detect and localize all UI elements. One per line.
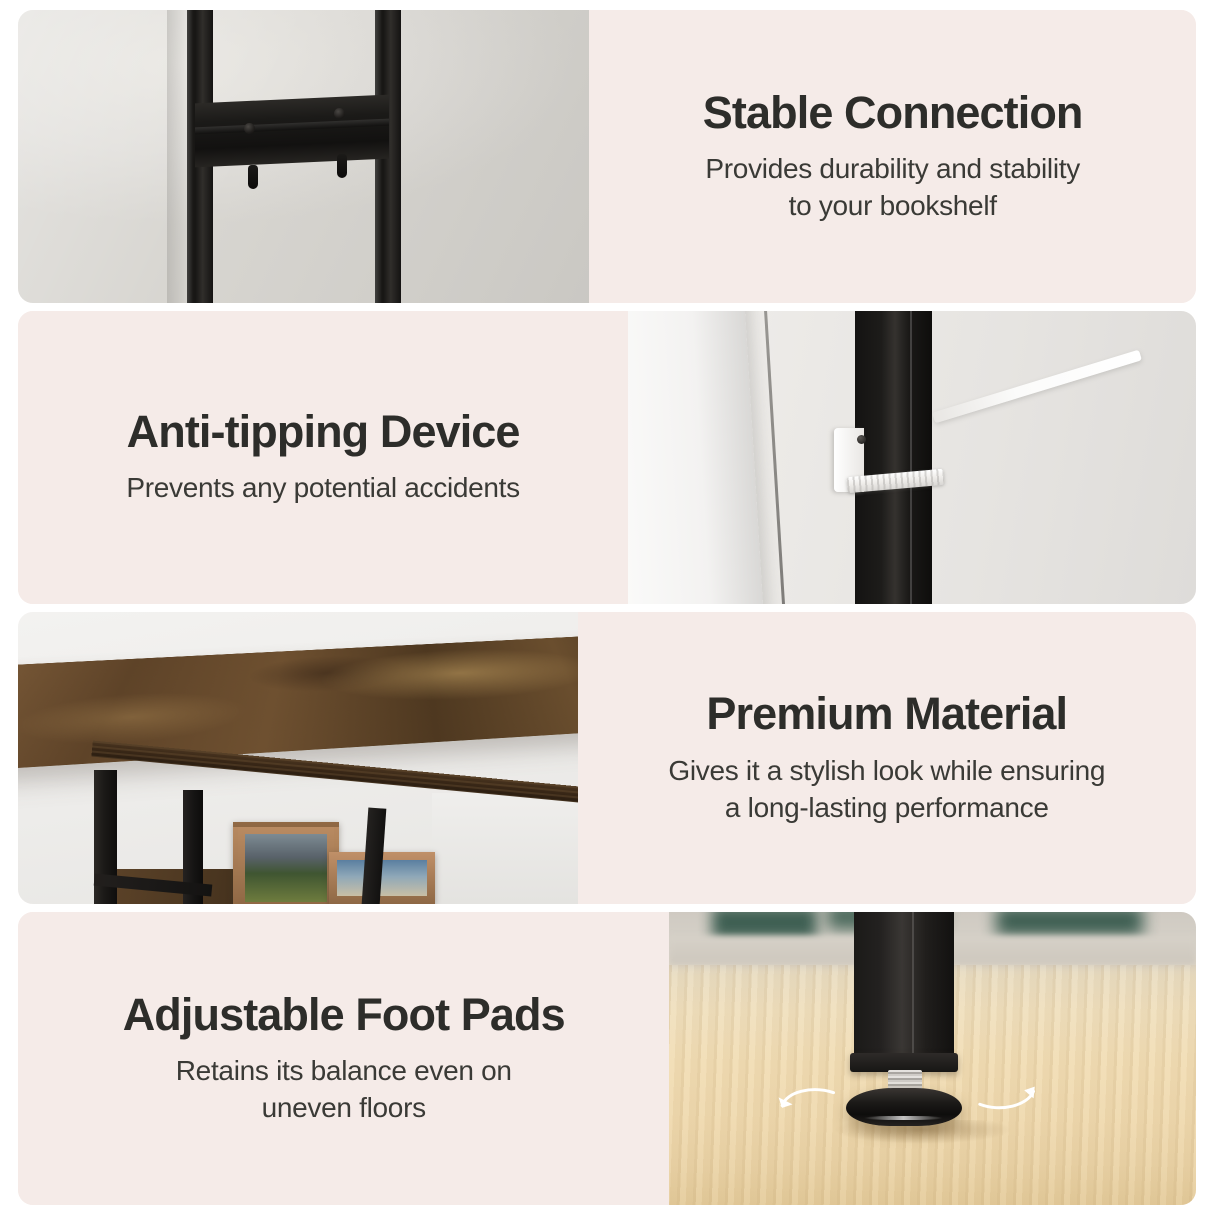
shelf-leg [854,912,954,1061]
rotation-arrow-right-icon [954,1082,1059,1111]
feature-text-anti-tipping-device: Anti-tipping Device Prevents any potenti… [18,311,628,604]
feature-panel-anti-tipping-device: Anti-tipping Device Prevents any potenti… [18,311,1196,604]
feature-text-premium-material: Premium Material Gives it a stylish look… [578,612,1196,905]
feature-subline: Prevents any potential accidents [126,470,520,507]
adjustable-foot-pad [846,1088,962,1126]
screw-icon [334,108,345,119]
door-panel [628,311,763,604]
feature-image-stable-connection [18,10,589,303]
feature-subline: Provides durability and stability to you… [705,151,1080,225]
post-highlight-edge [910,311,912,604]
feature-subline-line: Prevents any potential accidents [126,472,520,503]
feature-panel-premium-material: Premium Material Gives it a stylish look… [18,612,1196,905]
blurred-green-object [712,912,817,938]
feature-headline: Premium Material [706,689,1067,739]
feature-subline-line: Retains its balance even on [176,1055,512,1086]
feature-subline: Retains its balance even on uneven floor… [176,1053,512,1127]
feature-panel-adjustable-foot-pads: Adjustable Foot Pads Retains its balance… [18,912,1196,1205]
feature-headline: Anti-tipping Device [127,407,520,457]
feature-subline: Gives it a stylish look while ensuring a… [668,753,1105,827]
leg-highlight-edge [912,912,914,1061]
feature-image-anti-tipping-device [628,311,1196,604]
feature-headline: Adjustable Foot Pads [123,990,565,1040]
feature-subline-line: a long-lasting performance [725,792,1049,823]
feature-panel-stable-connection: Stable Connection Provides durability an… [18,10,1196,303]
blurred-green-object [996,912,1143,935]
feature-infographic-board: Stable Connection Provides durability an… [0,0,1214,1214]
feature-headline: Stable Connection [703,88,1083,138]
wall-lower-section [432,793,577,904]
shelf-post [855,311,932,604]
feature-text-stable-connection: Stable Connection Provides durability an… [589,10,1196,303]
shelf-peg [337,154,347,178]
shelf-peg [248,165,258,189]
feature-subline-line: uneven floors [262,1092,426,1123]
feature-image-premium-material [18,612,578,905]
feature-subline-line: Gives it a stylish look while ensuring [668,755,1105,786]
framed-picture [233,822,338,904]
leg-collar [850,1053,958,1072]
rotation-arrow-left-icon [754,1088,859,1117]
feature-image-adjustable-foot-pads [669,912,1196,1205]
feature-subline-line: Provides durability and stability [705,153,1080,184]
metal-crossbar [195,95,389,168]
feature-text-adjustable-foot-pads: Adjustable Foot Pads Retains its balance… [18,912,669,1205]
feature-subline-line: to your bookshelf [789,190,997,221]
